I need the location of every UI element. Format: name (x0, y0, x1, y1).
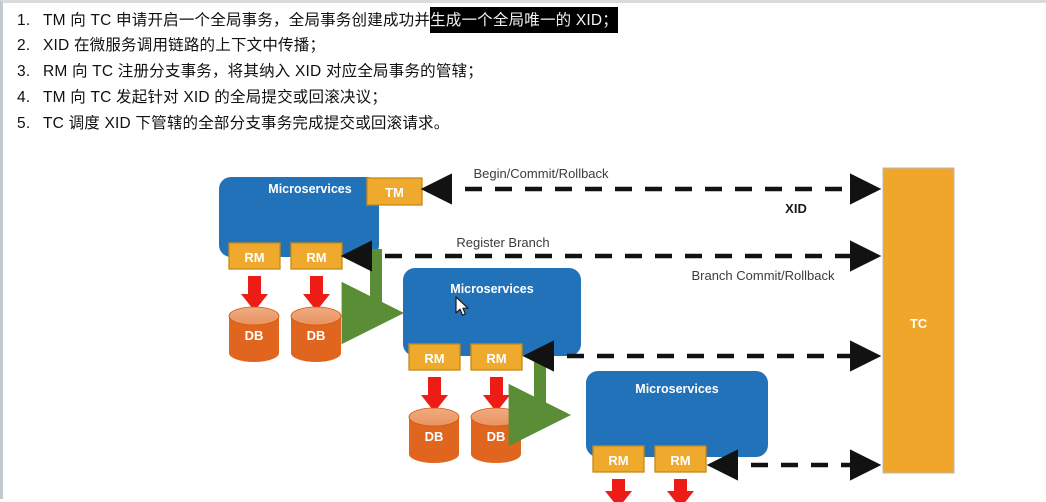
edge-label-branch-commit-rollback: Branch Commit/Rollback (691, 268, 835, 283)
edge-label-xid: XID (785, 201, 807, 216)
rm-label: RM (486, 351, 506, 366)
service-1-to-service-2-green-arrow (376, 249, 392, 313)
service-3-group: Microservices RM RM (586, 371, 768, 502)
tm-node[interactable]: TM (367, 178, 422, 205)
rm-label: RM (424, 351, 444, 366)
page-root: 1. TM 向 TC 申请开启一个全局事务，全局事务创建成功并生成一个全局唯一的… (0, 0, 1046, 499)
service-1-rm-2-to-db-arrow (303, 276, 330, 311)
service-2-to-service-3-green-arrow (540, 350, 559, 415)
service-2-label: Microservices (450, 282, 533, 296)
edge-label-register-branch: Register Branch (456, 235, 549, 250)
rm-label: RM (244, 250, 264, 265)
tm-label: TM (385, 185, 404, 200)
service-1-label: Microservices (268, 182, 351, 196)
db-label: DB (487, 429, 506, 444)
service-1-rm-1[interactable]: RM (229, 243, 280, 269)
seata-architecture-diagram: TC Microservices TM RM RM (3, 3, 1046, 502)
tc-node[interactable]: TC (883, 168, 954, 473)
db-label: DB (245, 328, 264, 343)
service-3-rm-1[interactable]: RM (593, 446, 644, 472)
mouse-cursor (455, 296, 471, 318)
service-1-rm-1-to-db-arrow (241, 276, 268, 311)
service-2-rm-1-to-db-arrow (421, 377, 448, 412)
edge-label-begin-commit-rollback: Begin/Commit/Rollback (473, 166, 609, 181)
service-2-group: Microservices RM RM DB (403, 268, 581, 463)
db-label: DB (307, 328, 326, 343)
tc-label: TC (910, 316, 928, 331)
service-1-db-2[interactable]: DB (291, 307, 341, 362)
service-2-rm-2[interactable]: RM (471, 344, 522, 370)
service-2-db-1[interactable]: DB (409, 408, 459, 463)
rm-label: RM (306, 250, 326, 265)
service-1-rm-2[interactable]: RM (291, 243, 342, 269)
service-2-rm-1[interactable]: RM (409, 344, 460, 370)
service-3-rm-2[interactable]: RM (655, 446, 706, 472)
edge-tm-tc: Begin/Commit/Rollback XID (427, 166, 875, 216)
rm-label: RM (670, 453, 690, 468)
service-2-db-2[interactable]: DB (471, 408, 521, 463)
service-2-rm-2-to-db-arrow (483, 377, 510, 412)
service-1-group: Microservices TM RM RM (219, 177, 422, 362)
db-label: DB (425, 429, 444, 444)
service-3-label: Microservices (635, 382, 718, 396)
rm-label: RM (608, 453, 628, 468)
service-1-db-1[interactable]: DB (229, 307, 279, 362)
